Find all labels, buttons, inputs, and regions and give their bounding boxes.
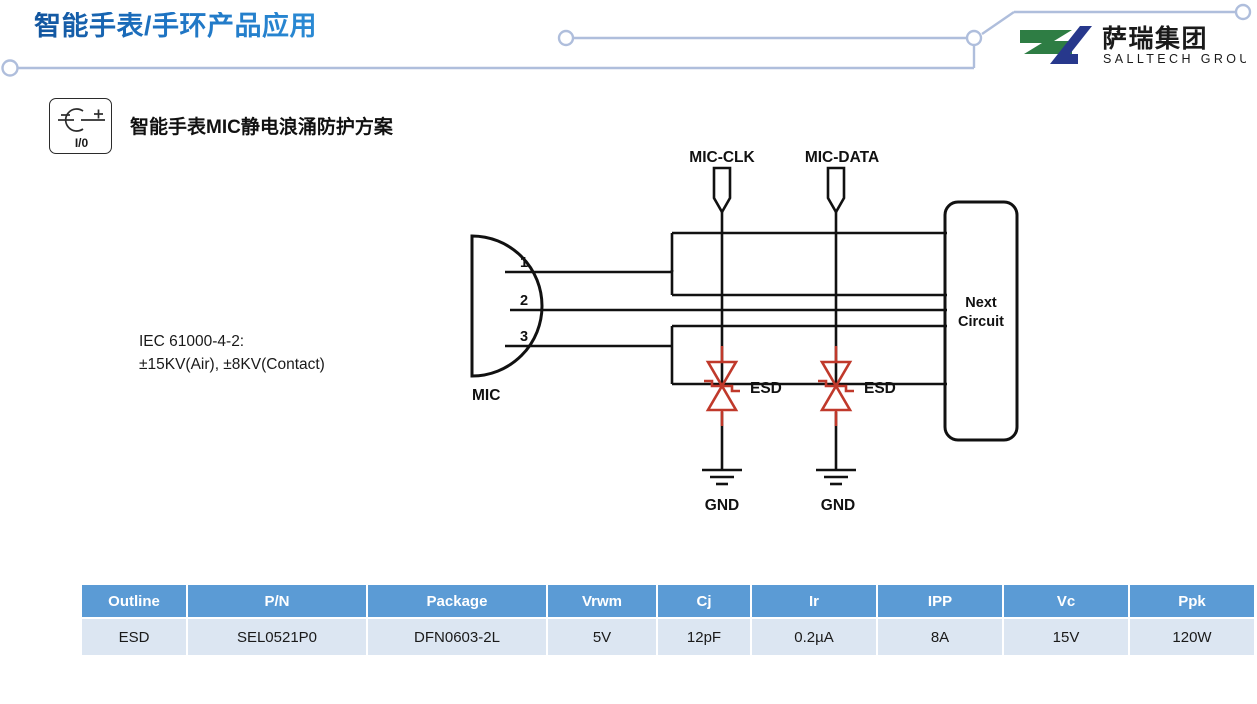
cell-vrwm: 5V (548, 619, 656, 655)
testpoint-mic-clk (714, 168, 730, 212)
cell-ppk: 120W (1130, 619, 1254, 655)
cell-outline: ESD (82, 619, 186, 655)
logo-brand-en: SALLTECH GROUP (1103, 52, 1246, 66)
ground-symbol-mic-clk (702, 470, 742, 484)
cell-ipp: 8A (878, 619, 1002, 655)
table-header-outline: Outline (82, 585, 186, 617)
table-row: ESD SEL0521P0 DFN0603-2L 5V 12pF 0.2µA 8… (82, 619, 1254, 655)
gnd-label-mic-clk: GND (705, 497, 739, 514)
testpoint-label-mic-clk: MIC-CLK (689, 150, 755, 166)
cell-pn: SEL0521P0 (188, 619, 366, 655)
ground-symbol-mic-data (816, 470, 856, 484)
iec-note-line2: ±15KV(Air), ±8KV(Contact) (139, 353, 325, 376)
esd-diode-mic-clk (704, 346, 740, 426)
table-header-row: Outline P/N Package Vrwm Cj Ir IPP Vc Pp… (82, 585, 1254, 617)
next-circuit-label-line1: Next (965, 295, 997, 311)
spec-table: Outline P/N Package Vrwm Cj Ir IPP Vc Pp… (80, 583, 1256, 657)
table-header-package: Package (368, 585, 546, 617)
deco-node-circle-right (1236, 5, 1250, 19)
page-title: 智能手表/手环产品应用 (34, 12, 317, 42)
section-heading: 智能手表MIC静电浪涌防护方案 (130, 112, 393, 139)
testpoint-mic-data (828, 168, 844, 212)
esd-label-mic-clk: ESD (750, 380, 782, 397)
io-icon-label: I/0 (75, 136, 89, 150)
cell-cj: 12pF (658, 619, 750, 655)
testpoint-label-mic-data: MIC-DATA (805, 150, 879, 166)
next-circuit-label-line2: Circuit (958, 314, 1004, 330)
table-header-ppk: Ppk (1130, 585, 1254, 617)
deco-node-circle-mid (559, 31, 573, 45)
company-logo: 萨瑞集团 SALLTECH GROUP (1014, 18, 1246, 68)
mic-pin-label-3: 3 (520, 329, 528, 345)
mic-pin-label-2: 2 (520, 293, 528, 309)
slide-canvas: 智能手表/手环产品应用 萨瑞集团 SALLTECH GROUP I/0 (0, 0, 1257, 704)
table-header-vrwm: Vrwm (548, 585, 656, 617)
cell-vc: 15V (1004, 619, 1128, 655)
mic-pin-label-1: 1 (520, 255, 528, 271)
cell-ir: 0.2µA (752, 619, 876, 655)
circuit-schematic: MIC-CLK MIC-DATA 1 2 3 MIC ESD ESD GND G… (450, 150, 1050, 530)
io-port-icon: I/0 (49, 98, 112, 154)
deco-node-circle-left (3, 61, 18, 76)
iec-standard-note: IEC 61000-4-2: ±15KV(Air), ±8KV(Contact) (139, 330, 325, 377)
mic-label: MIC (472, 387, 500, 404)
mic-symbol (472, 236, 542, 376)
iec-note-line1: IEC 61000-4-2: (139, 330, 325, 353)
esd-diode-mic-data (818, 346, 854, 426)
esd-label-mic-data: ESD (864, 380, 896, 397)
table-header-ir: Ir (752, 585, 876, 617)
logo-brand-cn: 萨瑞集团 (1102, 24, 1208, 53)
cell-package: DFN0603-2L (368, 619, 546, 655)
gnd-label-mic-data: GND (821, 497, 855, 514)
table-header-cj: Cj (658, 585, 750, 617)
table-header-pn: P/N (188, 585, 366, 617)
table-header-vc: Vc (1004, 585, 1128, 617)
table-header-ipp: IPP (878, 585, 1002, 617)
deco-node-circle-junction (967, 31, 981, 45)
